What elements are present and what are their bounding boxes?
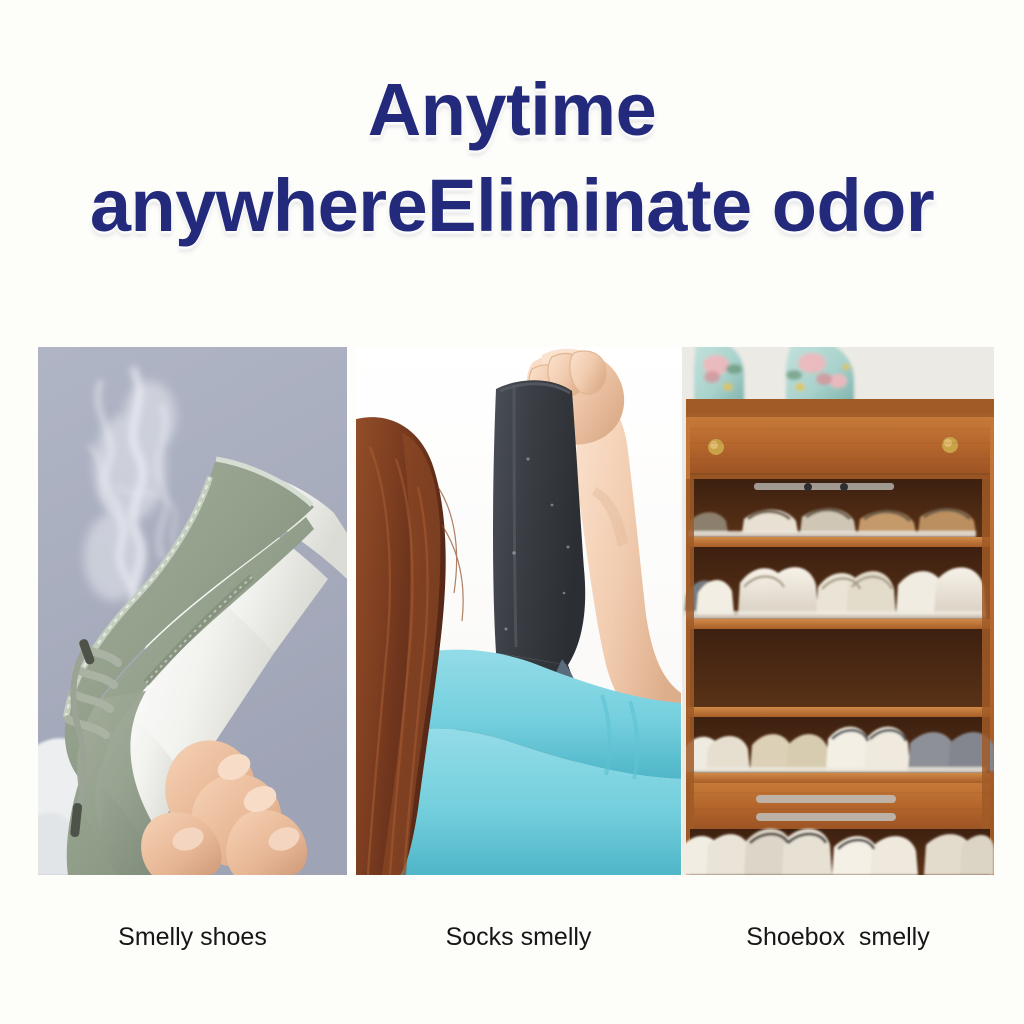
caption-socks-smelly: Socks smelly [356, 922, 681, 952]
caption-row: Smelly shoes Socks smelly Shoebox smelly [38, 922, 994, 962]
panel-row [38, 347, 994, 875]
headline-line-2: anywhereEliminate odor [0, 158, 1024, 254]
headline-line-1: Anytime [0, 62, 1024, 158]
panel-shoebox-smelly [682, 347, 994, 875]
smelly-sock-photo [356, 347, 681, 875]
panel-socks-smelly [356, 347, 681, 875]
odor-eliminator-promo-poster: Anytime anywhereEliminate odor [0, 0, 1024, 1024]
smelly-shoe-photo [38, 347, 347, 875]
panel-smelly-shoes [38, 347, 347, 875]
shoe-cabinet-photo [682, 347, 994, 875]
caption-shoebox-smelly: Shoebox smelly [682, 922, 994, 952]
caption-smelly-shoes: Smelly shoes [38, 922, 347, 952]
page-title: Anytime anywhereEliminate odor [0, 62, 1024, 254]
